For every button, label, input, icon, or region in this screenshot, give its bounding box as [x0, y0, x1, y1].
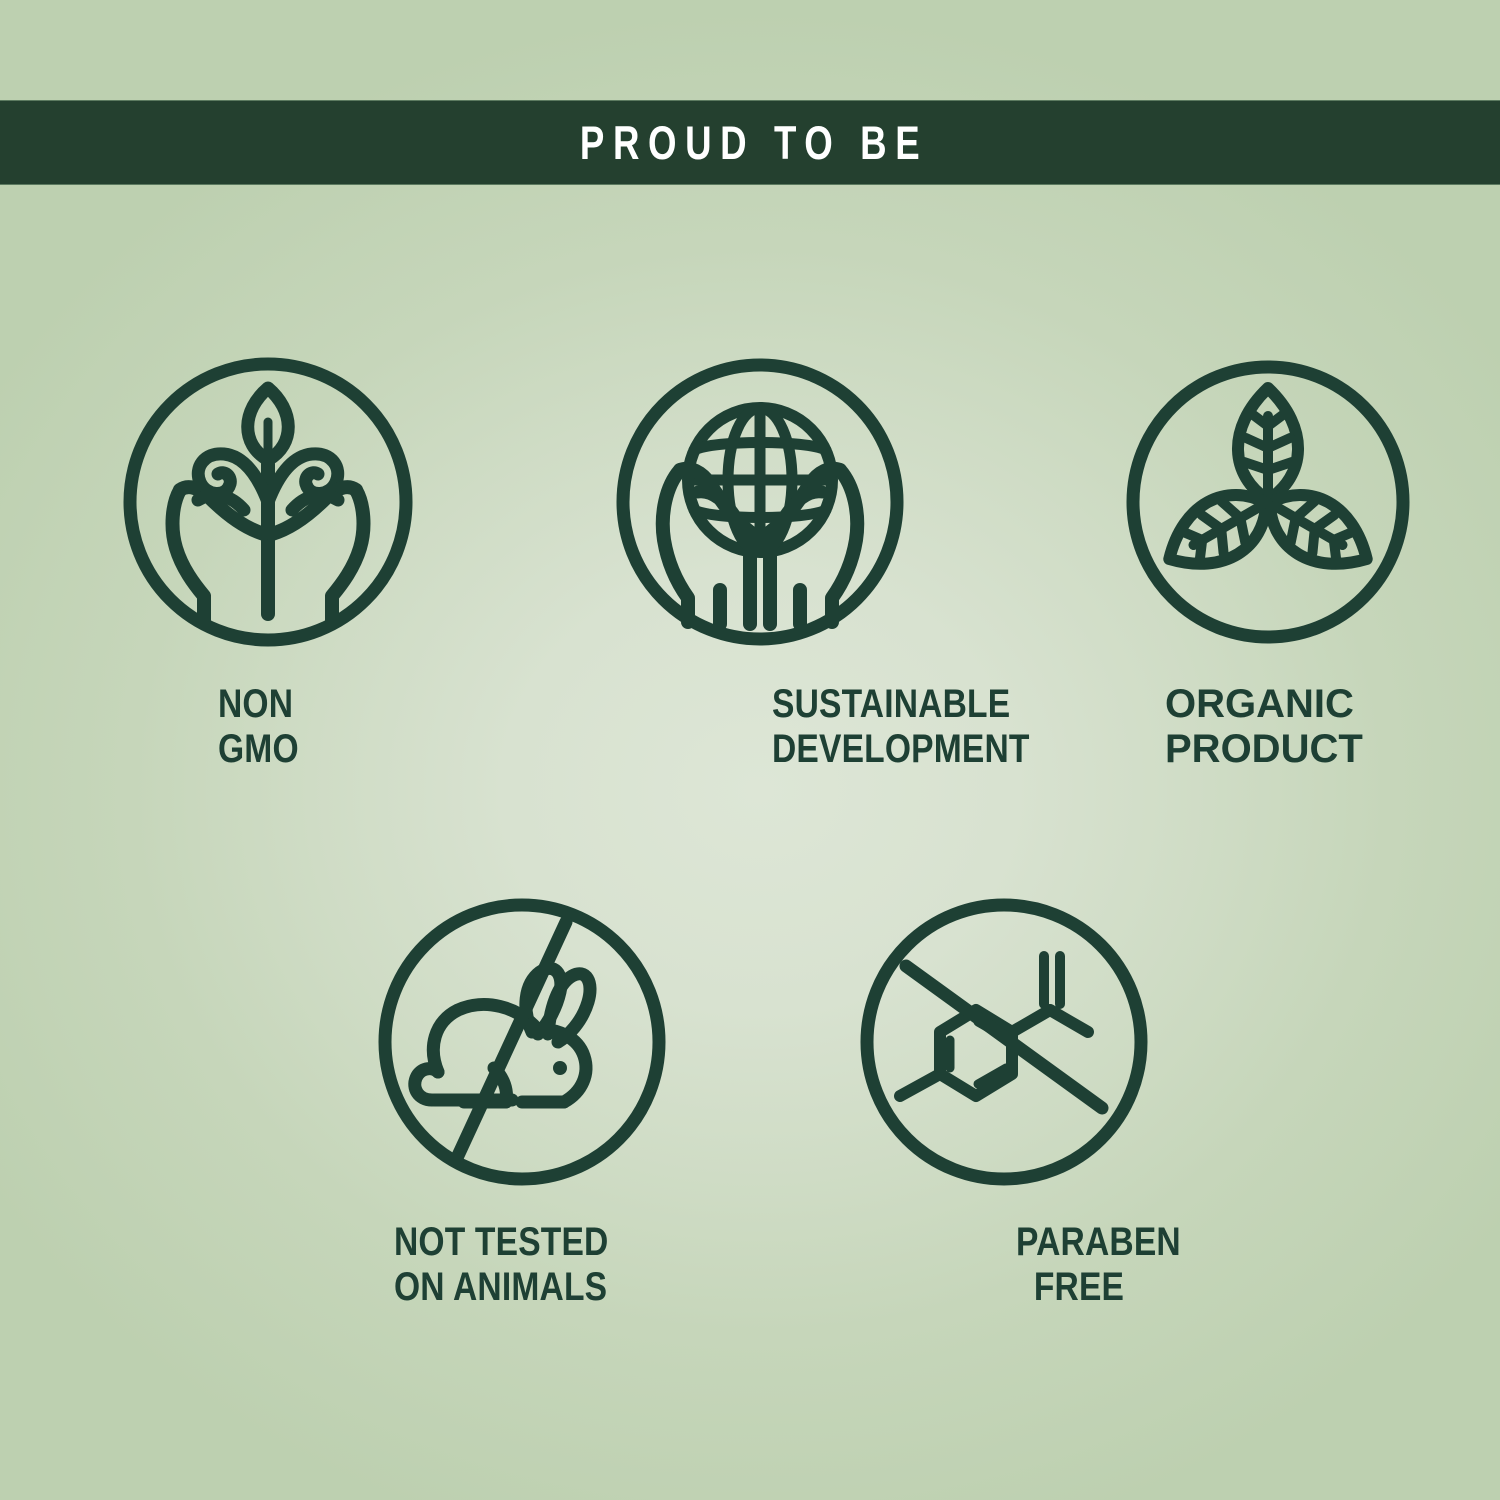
hands-holding-plant-icon [118, 352, 418, 652]
molecule-no-slash-icon [854, 892, 1154, 1192]
rabbit-no-slash-icon [372, 892, 672, 1192]
badge-organic-product: ORGANIC PRODUCT [1118, 352, 1418, 772]
page-title: PROUD TO BE [572, 119, 929, 166]
badge-label: PARABEN FREE [1016, 1220, 1142, 1310]
badge-label: SUSTAINABLE DEVELOPMENT [772, 682, 898, 772]
poster-root: PROUD TO BE NON GMO [0, 0, 1500, 1500]
badge-not-tested-on-animals: NOT TESTED ON ANIMALS [372, 892, 672, 1310]
badge-paraben-free: PARABEN FREE [854, 892, 1154, 1310]
badge-label: NON GMO [218, 682, 386, 772]
trefoil-leaves-icon [1118, 352, 1418, 652]
badge-non-gmo: NON GMO [118, 352, 418, 772]
badge-sustainable-development: SUSTAINABLE DEVELOPMENT [610, 352, 910, 772]
header-banner: PROUD TO BE [0, 100, 1500, 185]
hands-holding-globe-icon [610, 352, 910, 652]
badge-label: NOT TESTED ON ANIMALS [394, 1220, 628, 1310]
badge-label: ORGANIC PRODUCT [1165, 682, 1418, 772]
